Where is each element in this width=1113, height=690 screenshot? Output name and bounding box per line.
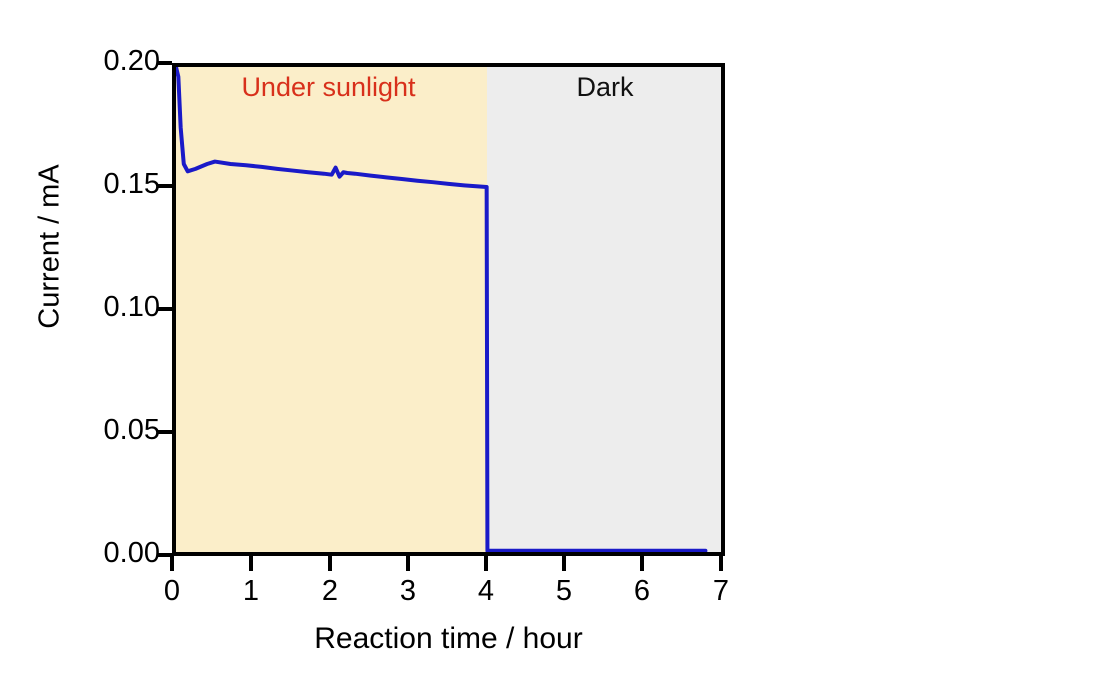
plot-area bbox=[172, 63, 725, 556]
reaction-schematic: e− bbox=[760, 0, 1113, 690]
x-tick-label: 3 bbox=[388, 575, 428, 607]
x-tick-label: 6 bbox=[622, 575, 662, 607]
y-tick-mark bbox=[158, 430, 172, 434]
x-tick-mark bbox=[170, 556, 174, 571]
y-tick-label: 0.05 bbox=[72, 416, 160, 445]
y-tick-mark bbox=[158, 307, 172, 311]
x-tick-mark bbox=[484, 556, 488, 571]
x-tick-mark bbox=[640, 556, 644, 571]
y-axis-label: Current / mA bbox=[34, 77, 67, 417]
x-tick-mark bbox=[719, 556, 723, 571]
y-tick-label: 0.10 bbox=[72, 293, 160, 322]
x-tick-label: 7 bbox=[701, 575, 741, 607]
x-tick-mark bbox=[328, 556, 332, 571]
x-tick-label: 2 bbox=[310, 575, 350, 607]
y-tick-mark bbox=[158, 61, 172, 65]
x-axis-label: Reaction time / hour bbox=[172, 622, 725, 656]
photocurrent-chart: Current / mA 0.20 0.15 0.10 0.05 0.00 Un… bbox=[0, 0, 760, 690]
x-tick-mark bbox=[562, 556, 566, 571]
x-tick-label: 0 bbox=[152, 575, 192, 607]
x-tick-mark bbox=[406, 556, 410, 571]
y-tick-label: 0.15 bbox=[72, 170, 160, 199]
y-tick-label: 0.20 bbox=[72, 47, 160, 76]
y-tick-label: 0.00 bbox=[72, 539, 160, 568]
photocurrent-curve bbox=[176, 67, 721, 552]
x-tick-label: 5 bbox=[544, 575, 584, 607]
x-tick-label: 4 bbox=[466, 575, 506, 607]
annotation-under-sunlight: Under sunlight bbox=[172, 72, 485, 103]
x-tick-mark bbox=[249, 556, 253, 571]
x-tick-label: 1 bbox=[231, 575, 271, 607]
y-tick-mark bbox=[158, 184, 172, 188]
annotation-dark: Dark bbox=[485, 72, 725, 103]
